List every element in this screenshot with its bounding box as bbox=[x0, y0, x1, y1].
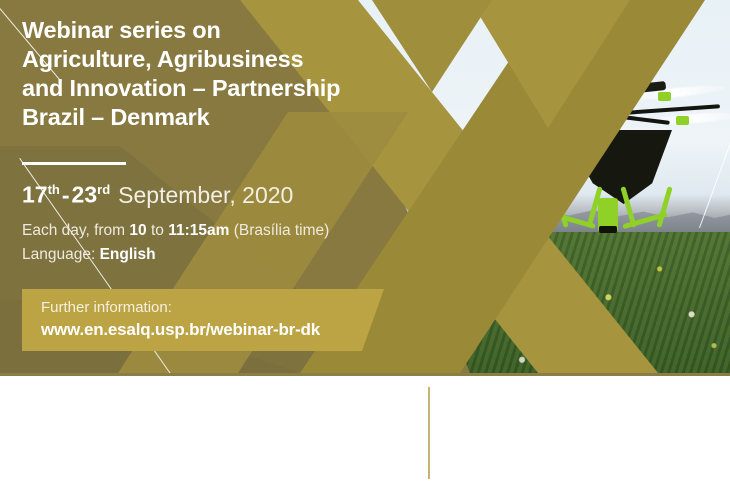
start-day: 17 bbox=[22, 182, 48, 208]
schedule-middle: to bbox=[147, 222, 169, 239]
event-schedule: Each day, from 10 to 11:15am (Brasília t… bbox=[22, 219, 329, 242]
end-day: 23 bbox=[72, 182, 98, 208]
footer-top-rule bbox=[0, 373, 730, 376]
hero-banner: Webinar series on Agriculture, Agribusin… bbox=[0, 0, 730, 373]
start-day-suffix: th bbox=[48, 182, 60, 197]
event-language: Language: English bbox=[22, 243, 156, 266]
webinar-poster: Webinar series on Agriculture, Agribusin… bbox=[0, 0, 730, 486]
webinar-url-link[interactable]: www.en.esalq.usp.br/webinar-br-dk bbox=[41, 320, 320, 340]
schedule-prefix: Each day, from bbox=[22, 222, 129, 239]
partners-footer: Organising Partners Supporting Partners … bbox=[0, 373, 730, 486]
partners-divider bbox=[428, 387, 430, 479]
schedule-end-time: 11:15am bbox=[168, 222, 229, 239]
title-line-4: Brazil – Denmark bbox=[22, 103, 412, 132]
further-information-label: Further information: bbox=[41, 299, 172, 316]
schedule-timezone: (Brasília time) bbox=[229, 222, 329, 239]
language-label: Language: bbox=[22, 246, 100, 263]
date-separator: - bbox=[60, 182, 72, 208]
title-divider-rule bbox=[22, 162, 126, 165]
title-line-3: and Innovation – Partnership bbox=[22, 74, 412, 103]
event-dates: 17th-23rdSeptember, 2020 bbox=[22, 176, 293, 209]
end-day-suffix: rd bbox=[97, 182, 110, 197]
poster-title: Webinar series on Agriculture, Agribusin… bbox=[22, 16, 412, 132]
month-year: September, 2020 bbox=[110, 182, 293, 208]
schedule-start-time: 10 bbox=[129, 222, 146, 239]
title-line-1: Webinar series on bbox=[22, 16, 412, 45]
title-line-2: Agriculture, Agribusiness bbox=[22, 45, 412, 74]
language-value: English bbox=[100, 246, 156, 263]
